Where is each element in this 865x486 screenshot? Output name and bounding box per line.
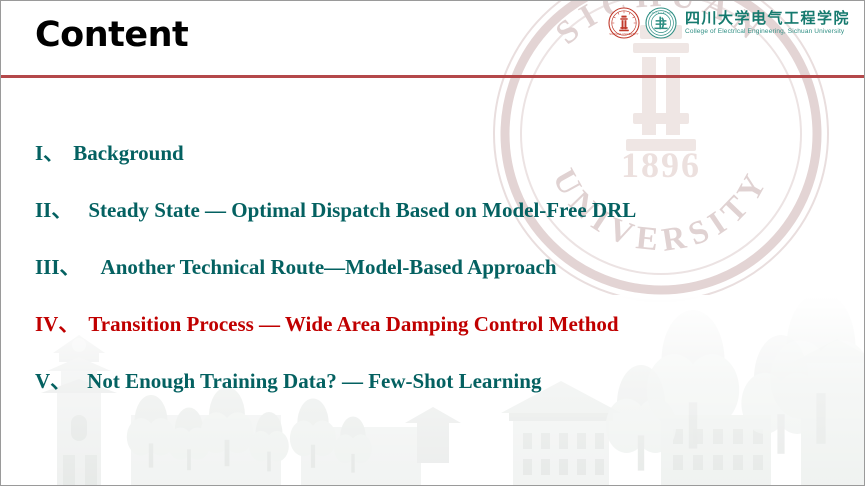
toc-numeral: II、 (35, 192, 72, 228)
logo-chinese-name: 四川大学电气工程学院 (685, 10, 850, 27)
toc-numeral: IV、 (35, 306, 79, 342)
toc-label: Not Enough Training Data? — Few-Shot Lea… (87, 363, 541, 399)
content-list: I、 Background II、 Steady State — Optimal… (35, 135, 825, 420)
svg-text:ELECTRICAL ENG: ELECTRICAL ENG (649, 11, 673, 14)
toc-item-transition-process[interactable]: IV、 Transition Process — Wide Area Dampi… (35, 306, 825, 363)
svg-text:SICHUAN UNIVERSITY: SICHUAN UNIVERSITY (609, 33, 639, 36)
toc-numeral: I、 (35, 135, 64, 171)
toc-item-steady-state[interactable]: II、 Steady State — Optimal Dispatch Base… (35, 192, 825, 249)
toc-item-few-shot-learning[interactable]: V、 Not Enough Training Data? — Few-Shot … (35, 363, 825, 420)
institution-logo: SICHUAN UNIVERSITY ELECTRICAL ENG 四川大学电气… (608, 5, 850, 41)
toc-label: Transition Process — Wide Area Damping C… (88, 306, 618, 342)
toc-label: Steady State — Optimal Dispatch Based on… (88, 192, 636, 228)
logo-wordmark: 四川大学电气工程学院 College of Electrical Enginee… (685, 10, 850, 36)
toc-numeral: III、 (35, 249, 81, 285)
toc-item-another-technical-route[interactable]: III、 Another Technical Route—Model-Based… (35, 249, 825, 306)
toc-label: Another Technical Route—Model-Based Appr… (101, 249, 557, 285)
sichuan-university-seal-icon: SICHUAN UNIVERSITY (608, 7, 640, 39)
toc-item-background[interactable]: I、 Background (35, 135, 825, 192)
page-title: Content (35, 16, 188, 55)
slide: SICHUAN UNIVERSITY 1896 (0, 0, 865, 486)
title-divider-rule (1, 75, 864, 78)
toc-label: Background (73, 135, 184, 171)
logo-english-name: College of Electrical Engineering, Sichu… (685, 28, 850, 36)
college-of-electrical-engineering-seal-icon: ELECTRICAL ENG (645, 7, 677, 39)
toc-numeral: V、 (35, 363, 71, 399)
